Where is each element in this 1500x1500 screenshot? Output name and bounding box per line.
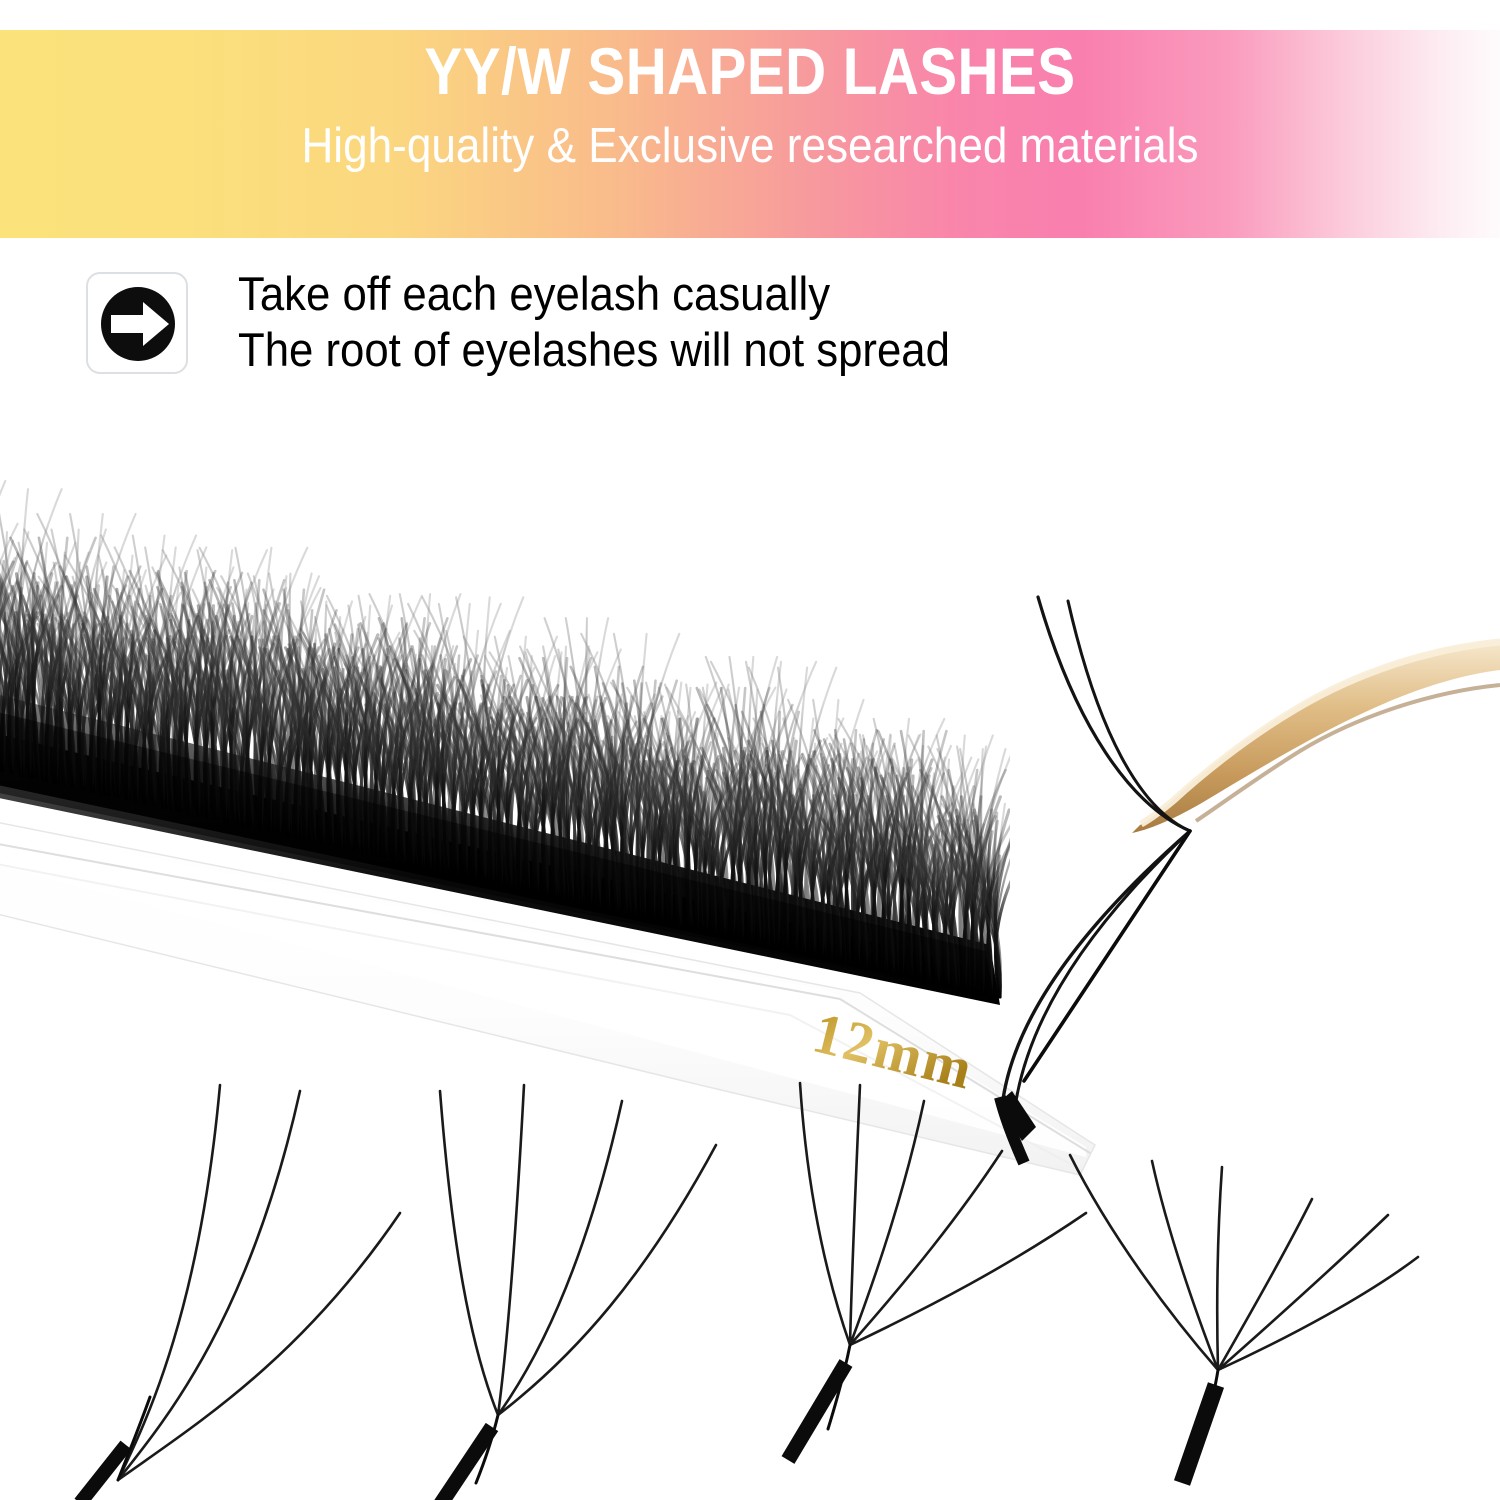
- gold-tweezer: [1132, 640, 1500, 833]
- page-title: YY/W SHAPED LASHES: [105, 38, 1395, 104]
- arrow-icon-box: [86, 272, 188, 374]
- instruction-callout: Take off each eyelash casually The root …: [86, 270, 1086, 390]
- instruction-line-2: The root of eyelashes will not spread: [238, 322, 1019, 378]
- product-photograph: 12mm: [0, 385, 1500, 1500]
- fan-6-branch: [1070, 1155, 1418, 1483]
- instruction-text-block: Take off each eyelash casually The root …: [238, 266, 1078, 378]
- instruction-line-1: Take off each eyelash casually: [238, 266, 1019, 322]
- fan-3-branch: [80, 1085, 400, 1500]
- lash-photo-svg: 12mm: [0, 385, 1500, 1500]
- page-subtitle: High-quality & Exclusive researched mate…: [75, 122, 1425, 171]
- fan-4-branch: [440, 1085, 716, 1500]
- promo-banner: YY/W SHAPED LASHES High-quality & Exclus…: [0, 30, 1500, 238]
- held-lash-fan: [998, 597, 1190, 1163]
